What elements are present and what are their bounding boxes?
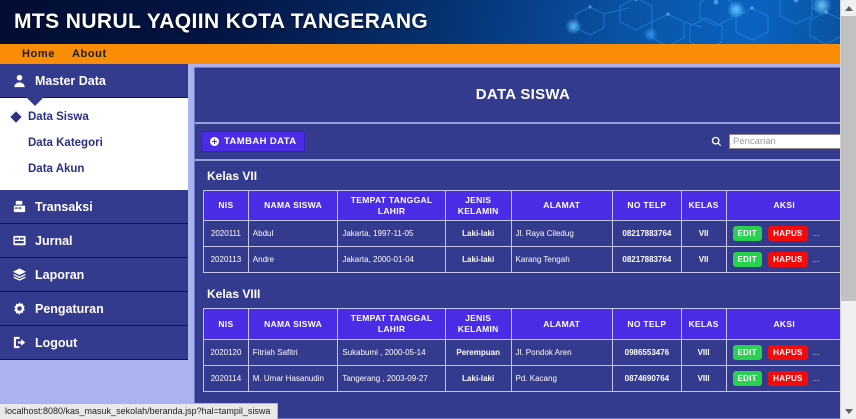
cell-nama: Abdul xyxy=(248,221,338,247)
edit-button[interactable]: EDIT xyxy=(733,252,762,267)
cell-aksi: EDIT HAPUS DETAIL xyxy=(726,221,843,247)
hapus-button[interactable]: HAPUS xyxy=(768,371,808,386)
cell-aksi: EDIT HAPUS DETAIL xyxy=(726,339,843,365)
table-row: 2020113 Andre Jakarta, 2000-01-04 Laki-l… xyxy=(204,247,843,273)
search-area xyxy=(711,134,841,149)
sidebar-subitem-label: Data Siswa xyxy=(28,111,89,123)
main-content: DATA SISWA TAMBAH DATA Kelas VII xyxy=(188,64,856,419)
cell-alamat: Pd. Kacang xyxy=(511,365,613,391)
cell-kelas: VIII xyxy=(681,365,726,391)
sidebar-subitem-data-akun[interactable]: Data Akun xyxy=(0,156,188,182)
vertical-scrollbar[interactable] xyxy=(840,0,856,419)
detail-button[interactable]: DETAIL xyxy=(814,371,843,386)
add-data-button[interactable]: TAMBAH DATA xyxy=(201,131,305,152)
gear-icon xyxy=(12,301,27,316)
book-icon xyxy=(12,233,27,248)
plus-circle-icon xyxy=(210,137,219,146)
column-header-aksi: AKSI xyxy=(726,309,843,339)
add-data-label: TAMBAH DATA xyxy=(224,136,296,147)
table-header-row: NIS NAMA SISWA TEMPAT TANGGAL LAHIR JENI… xyxy=(204,191,843,221)
cell-jk: Laki-laki xyxy=(445,221,511,247)
sidebar-item-label: Pengaturan xyxy=(35,302,104,316)
cell-nama: Fitriah Safitri xyxy=(248,339,338,365)
cell-telp: 0874690764 xyxy=(613,365,682,391)
column-header-nama: NAMA SISWA xyxy=(248,191,338,221)
layers-icon xyxy=(12,267,27,282)
cell-nama: Andre xyxy=(248,247,338,273)
user-icon xyxy=(12,73,27,88)
sidebar-item-laporan[interactable]: Laporan xyxy=(0,258,188,292)
cell-kelas: VII xyxy=(681,247,726,273)
column-header-ttl: TEMPAT TANGGAL LAHIR xyxy=(338,191,445,221)
cell-alamat: Jl. Raya Ciledug xyxy=(511,221,613,247)
sidebar-submenu: Data Siswa Data Kategori Data Akun xyxy=(0,98,188,190)
sign-out-icon xyxy=(12,335,27,350)
cell-telp: 08217883764 xyxy=(613,221,682,247)
column-header-aksi: AKSI xyxy=(726,191,843,221)
table-wrap-kelas-viii: NIS NAMA SISWA TEMPAT TANGGAL LAHIR JENI… xyxy=(195,308,851,397)
column-header-nama: NAMA SISWA xyxy=(248,309,338,339)
column-header-nis: NIS xyxy=(204,191,249,221)
cell-nis: 2020114 xyxy=(204,365,249,391)
hapus-button[interactable]: HAPUS xyxy=(768,226,808,241)
table-row: 2020120 Fitriah Safitri Sukabumi , 2000-… xyxy=(204,339,843,365)
sidebar-subitem-data-siswa[interactable]: Data Siswa xyxy=(0,104,188,130)
cell-ttl: Jakarta, 2000-01-04 xyxy=(338,247,445,273)
cell-kelas: VII xyxy=(681,221,726,247)
sidebar-item-transaksi[interactable]: Transaksi xyxy=(0,190,188,224)
scroll-down-arrow-icon[interactable] xyxy=(841,403,856,419)
column-header-ttl: TEMPAT TANGGAL LAHIR xyxy=(338,309,445,339)
edit-button[interactable]: EDIT xyxy=(733,345,762,360)
diamond-bullet-icon xyxy=(10,111,21,122)
cell-jk: Perempuan xyxy=(445,339,511,365)
cell-nis: 2020113 xyxy=(204,247,249,273)
sidebar-item-master-data[interactable]: Master Data xyxy=(0,64,188,98)
site-banner: MTS NURUL YAQIIN KOTA TANGERANG xyxy=(0,0,856,44)
cell-nama: M. Umar Hasanudin xyxy=(248,365,338,391)
column-header-kelas: KELAS xyxy=(681,309,726,339)
cell-jk: Laki-laki xyxy=(445,365,511,391)
sidebar-item-logout[interactable]: Logout xyxy=(0,326,188,360)
page-title: DATA SISWA xyxy=(195,68,851,124)
search-icon xyxy=(711,136,722,147)
column-header-alamat: ALAMAT xyxy=(511,309,613,339)
detail-button[interactable]: DETAIL xyxy=(814,252,843,267)
cell-alamat: Jl. Pondok Aren xyxy=(511,339,613,365)
cell-nis: 2020120 xyxy=(204,339,249,365)
cash-register-icon xyxy=(12,199,27,214)
column-header-jk: JENIS KELAMIN xyxy=(445,191,511,221)
column-header-jk: JENIS KELAMIN xyxy=(445,309,511,339)
sidebar-item-label: Laporan xyxy=(35,268,84,282)
sidebar-filler xyxy=(0,360,188,400)
table-header-row: NIS NAMA SISWA TEMPAT TANGGAL LAHIR JENI… xyxy=(204,309,843,339)
hapus-button[interactable]: HAPUS xyxy=(768,345,808,360)
table-row: 2020111 Abdul Jakarta, 1997-11-05 Laki-l… xyxy=(204,221,843,247)
nav-item-about[interactable]: About xyxy=(72,48,107,60)
content-panel: DATA SISWA TAMBAH DATA Kelas VII xyxy=(194,67,852,419)
hapus-button[interactable]: HAPUS xyxy=(768,252,808,267)
sidebar-item-label: Transaksi xyxy=(35,200,93,214)
column-header-telp: NO TELP xyxy=(613,191,682,221)
nav-item-home[interactable]: Home xyxy=(22,48,55,60)
cell-aksi: EDIT HAPUS DETAIL xyxy=(726,365,843,391)
cell-aksi: EDIT HAPUS DETAIL xyxy=(726,247,843,273)
sidebar: Master Data Data Siswa Data Kategori Dat… xyxy=(0,64,188,419)
cell-nis: 2020111 xyxy=(204,221,249,247)
scroll-up-arrow-icon[interactable] xyxy=(841,0,856,16)
sidebar-subitem-label: Data Akun xyxy=(28,163,84,175)
top-navbar: Home About xyxy=(0,44,856,64)
search-input[interactable] xyxy=(729,134,841,149)
cell-ttl: Sukabumi , 2000-05-14 xyxy=(338,339,445,365)
edit-button[interactable]: EDIT xyxy=(733,226,762,241)
group-title-kelas-viii: Kelas VIII xyxy=(195,279,851,308)
data-table-kelas-vii: NIS NAMA SISWA TEMPAT TANGGAL LAHIR JENI… xyxy=(203,190,843,273)
detail-button[interactable]: DETAIL xyxy=(814,345,843,360)
toolbar: TAMBAH DATA xyxy=(195,124,851,161)
cell-telp: 0986553476 xyxy=(613,339,682,365)
scrollbar-thumb[interactable] xyxy=(841,16,856,301)
cell-ttl: Jakarta, 1997-11-05 xyxy=(338,221,445,247)
column-header-alamat: ALAMAT xyxy=(511,191,613,221)
table-row: 2020114 M. Umar Hasanudin Tangerang , 20… xyxy=(204,365,843,391)
column-header-nis: NIS xyxy=(204,309,249,339)
cell-kelas: VIII xyxy=(681,339,726,365)
detail-button[interactable]: DETAIL xyxy=(814,226,843,241)
cell-jk: Laki-laki xyxy=(445,247,511,273)
sidebar-item-jurnal[interactable]: Jurnal xyxy=(0,224,188,258)
sidebar-item-label: Jurnal xyxy=(35,234,73,248)
banner-title: MTS NURUL YAQIIN KOTA TANGERANG xyxy=(0,0,856,44)
cell-ttl: Tangerang , 2003-09-27 xyxy=(338,365,445,391)
sidebar-item-label: Logout xyxy=(35,336,77,350)
table-wrap-kelas-vii: NIS NAMA SISWA TEMPAT TANGGAL LAHIR JENI… xyxy=(195,190,851,279)
sidebar-subitem-label: Data Kategori xyxy=(28,137,103,149)
status-bar-url: localhost:8080/kas_masuk_sekolah/beranda… xyxy=(0,403,278,419)
sidebar-item-pengaturan[interactable]: Pengaturan xyxy=(0,292,188,326)
data-table-kelas-viii: NIS NAMA SISWA TEMPAT TANGGAL LAHIR JENI… xyxy=(203,308,843,391)
column-header-kelas: KELAS xyxy=(681,191,726,221)
edit-button[interactable]: EDIT xyxy=(733,371,762,386)
page-shell: Master Data Data Siswa Data Kategori Dat… xyxy=(0,64,856,419)
cell-telp: 08217883764 xyxy=(613,247,682,273)
group-title-kelas-vii: Kelas VII xyxy=(195,161,851,190)
browser-viewport: MTS NURUL YAQIIN KOTA TANGERANG Home Abo… xyxy=(0,0,856,419)
sidebar-subitem-data-kategori[interactable]: Data Kategori xyxy=(0,130,188,156)
column-header-telp: NO TELP xyxy=(613,309,682,339)
cell-alamat: Karang Tengah xyxy=(511,247,613,273)
sidebar-item-label: Master Data xyxy=(35,74,106,88)
